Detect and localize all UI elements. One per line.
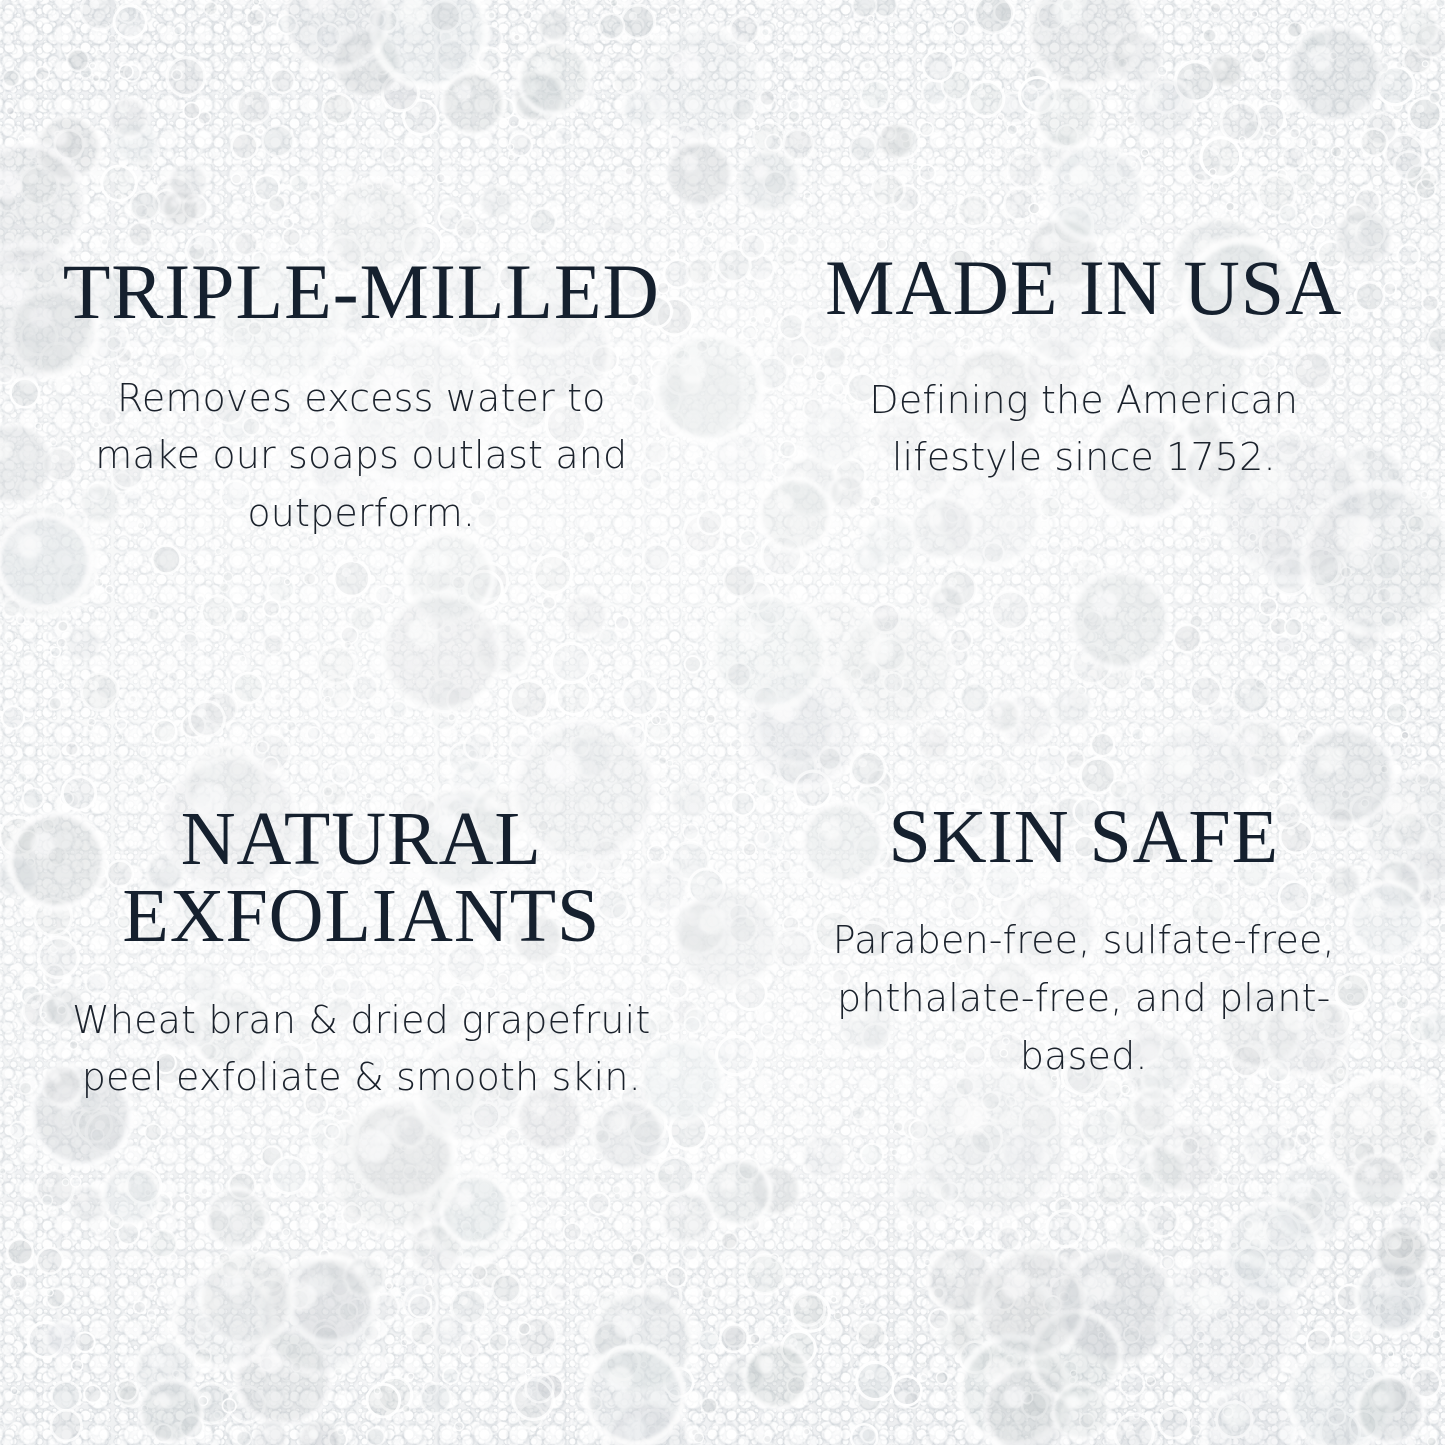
features-grid: TRIPLE-MILLED Removes excess water to ma… xyxy=(0,0,1445,1445)
feature-body-made-in-usa: Defining the American lifestyle since 17… xyxy=(814,372,1354,488)
feature-made-in-usa: MADE IN USA Defining the American lifest… xyxy=(723,0,1445,723)
feature-heading-natural-exfoliants: NATURAL EXFOLIANTS xyxy=(40,801,683,956)
feature-body-triple-milled: Removes excess water to make our soaps o… xyxy=(71,370,651,543)
feature-heading-made-in-usa: MADE IN USA xyxy=(825,248,1342,328)
feature-triple-milled: TRIPLE-MILLED Removes excess water to ma… xyxy=(0,0,723,723)
feature-skin-safe: SKIN SAFE Paraben-free, sulfate-free, ph… xyxy=(723,723,1445,1445)
feature-natural-exfoliants: NATURAL EXFOLIANTS Wheat bran & dried gr… xyxy=(0,723,723,1445)
soap-benefits-infographic: TRIPLE-MILLED Removes excess water to ma… xyxy=(0,0,1445,1445)
feature-body-skin-safe: Paraben-free, sulfate-free, phthalate-fr… xyxy=(794,912,1374,1085)
feature-heading-triple-milled: TRIPLE-MILLED xyxy=(63,252,660,332)
feature-heading-skin-safe: SKIN SAFE xyxy=(889,799,1279,877)
feature-body-natural-exfoliants: Wheat bran & dried grapefruit peel exfol… xyxy=(71,992,651,1108)
